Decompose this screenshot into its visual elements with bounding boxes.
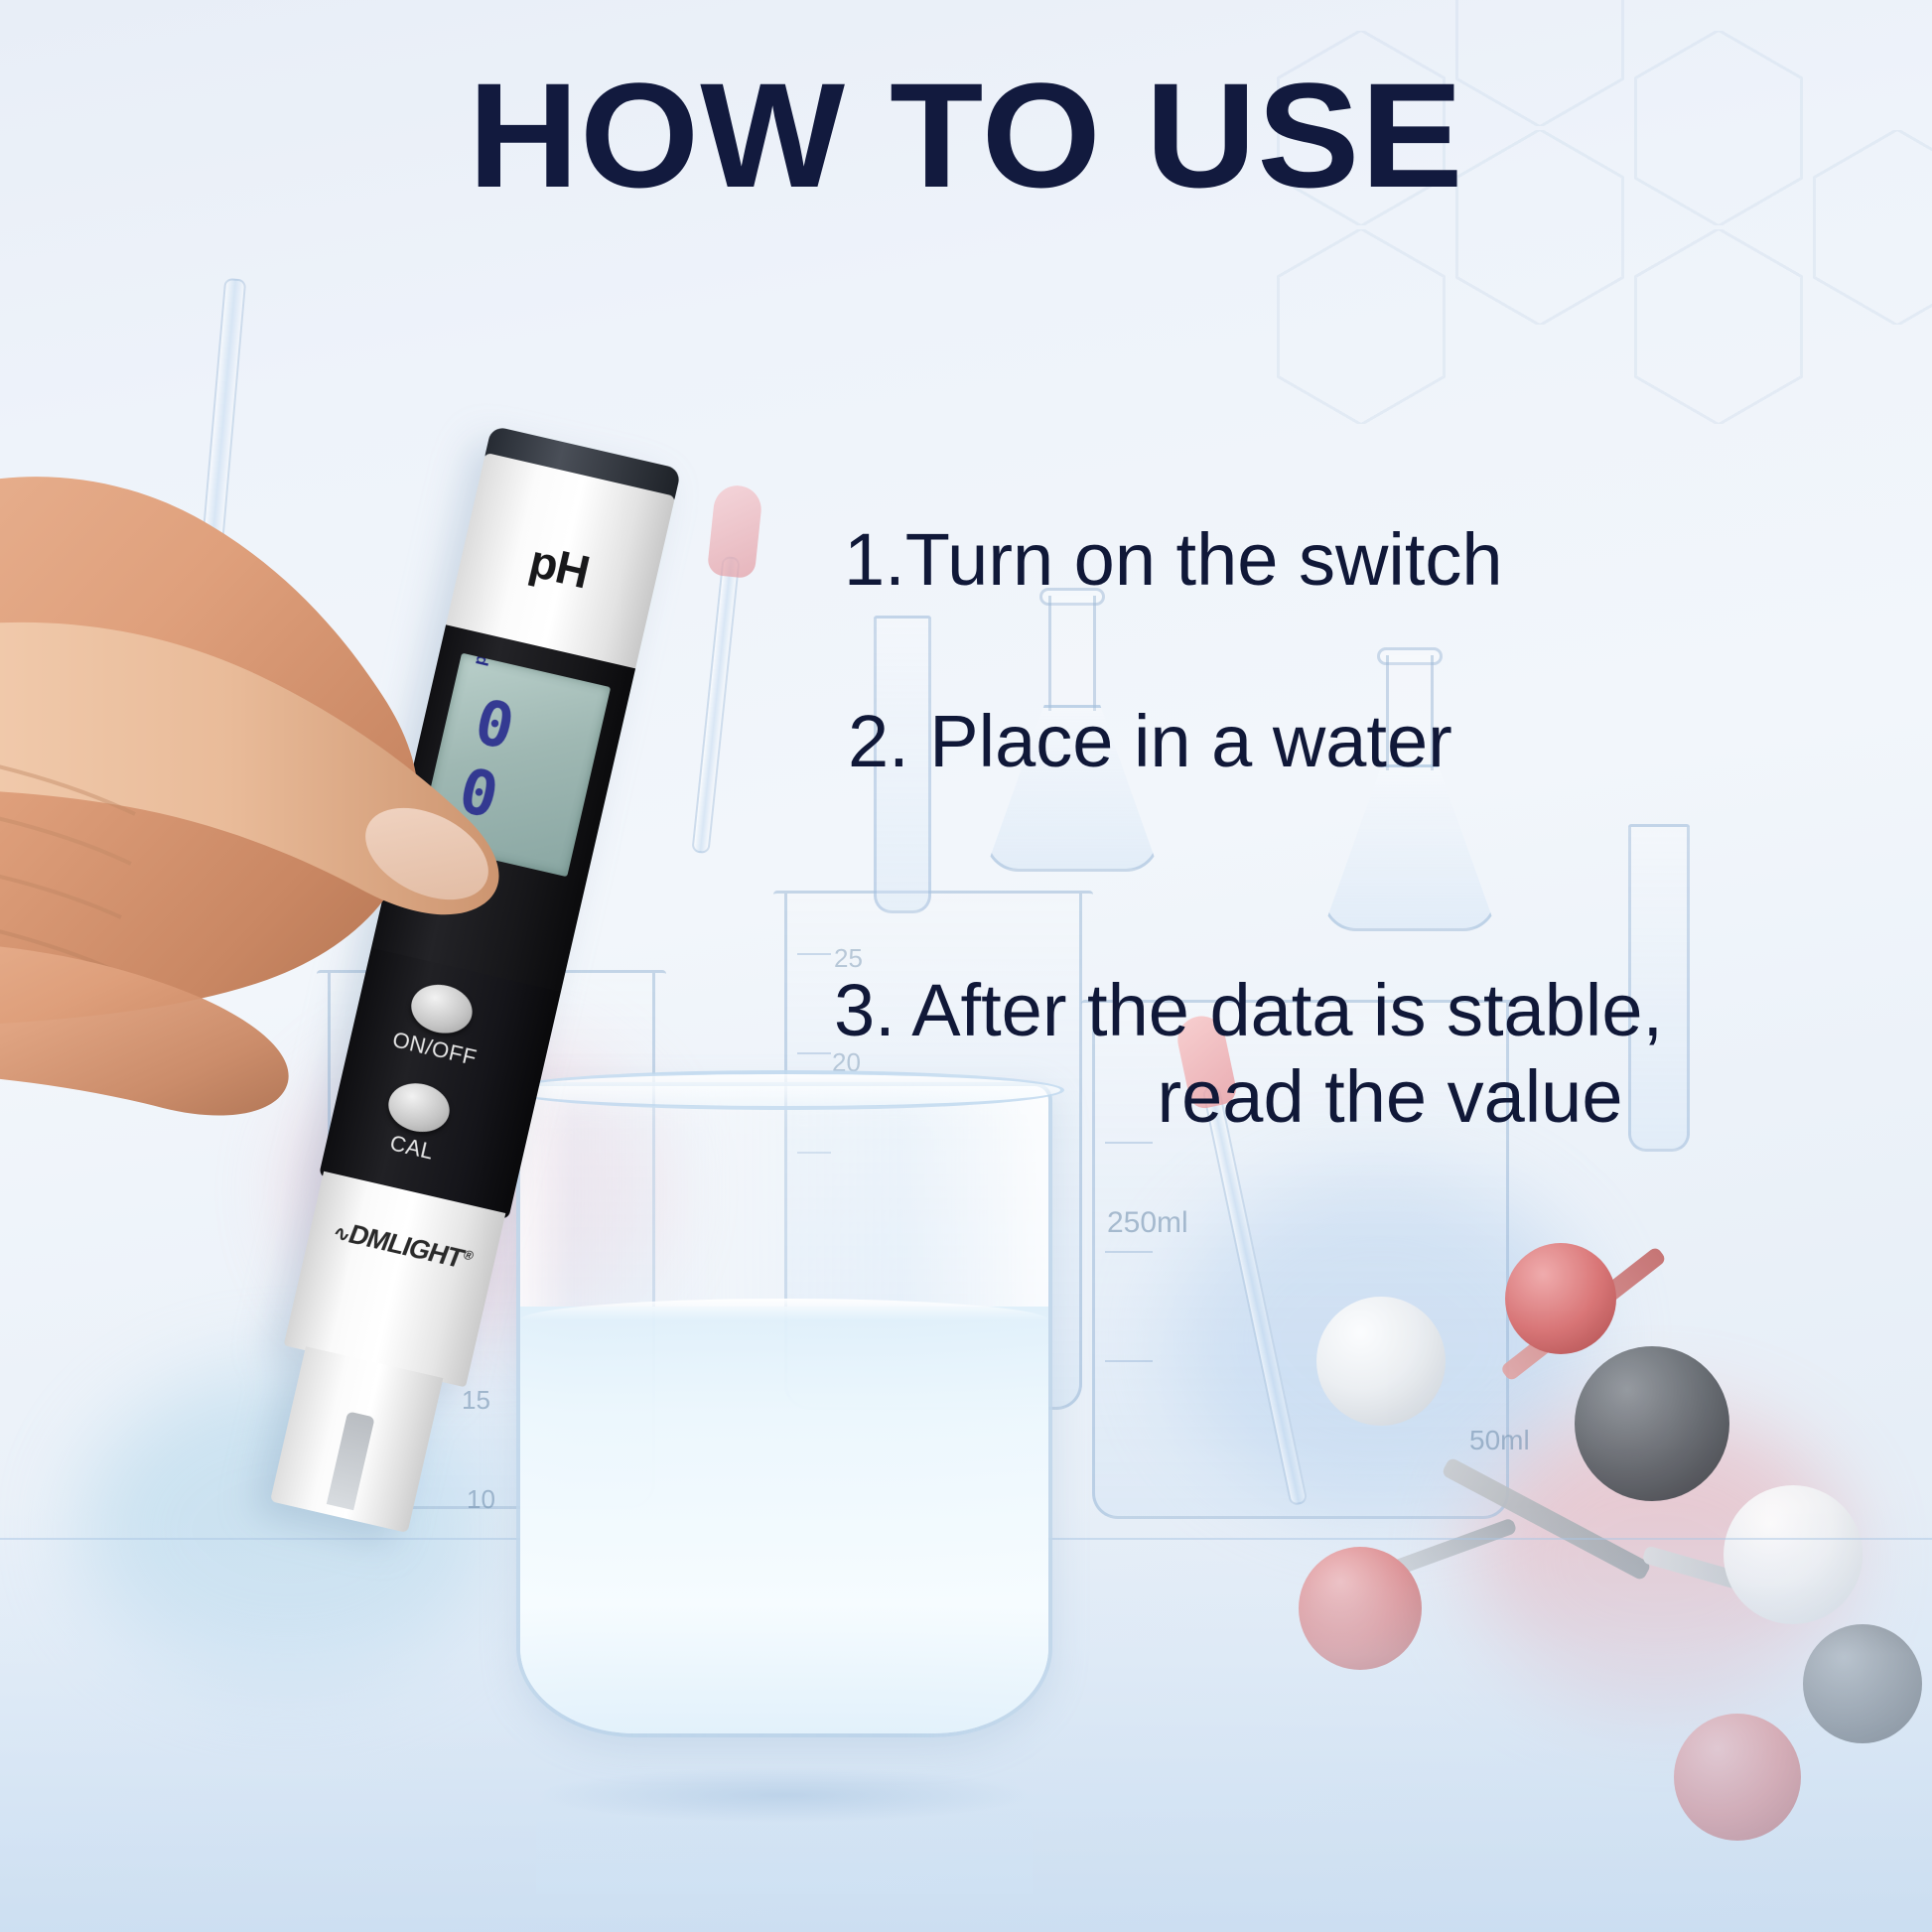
instruction-step-2: 2. Place in a water [848, 698, 1906, 784]
instruction-step-3-line-2: read the value [874, 1053, 1906, 1140]
instruction-step-3-line-1: 3. After the data is stable, [834, 969, 1663, 1051]
instruction-step-3: 3. After the data is stable, read the va… [834, 881, 1906, 1227]
molecule-atom-dark [1575, 1346, 1729, 1501]
infographic-canvas: 25 APPROX 25 20 15 10 250ml 50ml [0, 0, 1932, 1932]
hand-holding-device [0, 387, 675, 1301]
pipette-left [691, 556, 740, 854]
page-title: HOW TO USE [0, 60, 1932, 211]
instruction-step-1: 1.Turn on the switch [844, 516, 1906, 603]
instruction-list: 1.Turn on the switch 2. Place in a water… [834, 516, 1906, 1322]
probe-electrode [327, 1411, 375, 1510]
glass-shadow [536, 1767, 1033, 1823]
water-fill [520, 1307, 1048, 1733]
